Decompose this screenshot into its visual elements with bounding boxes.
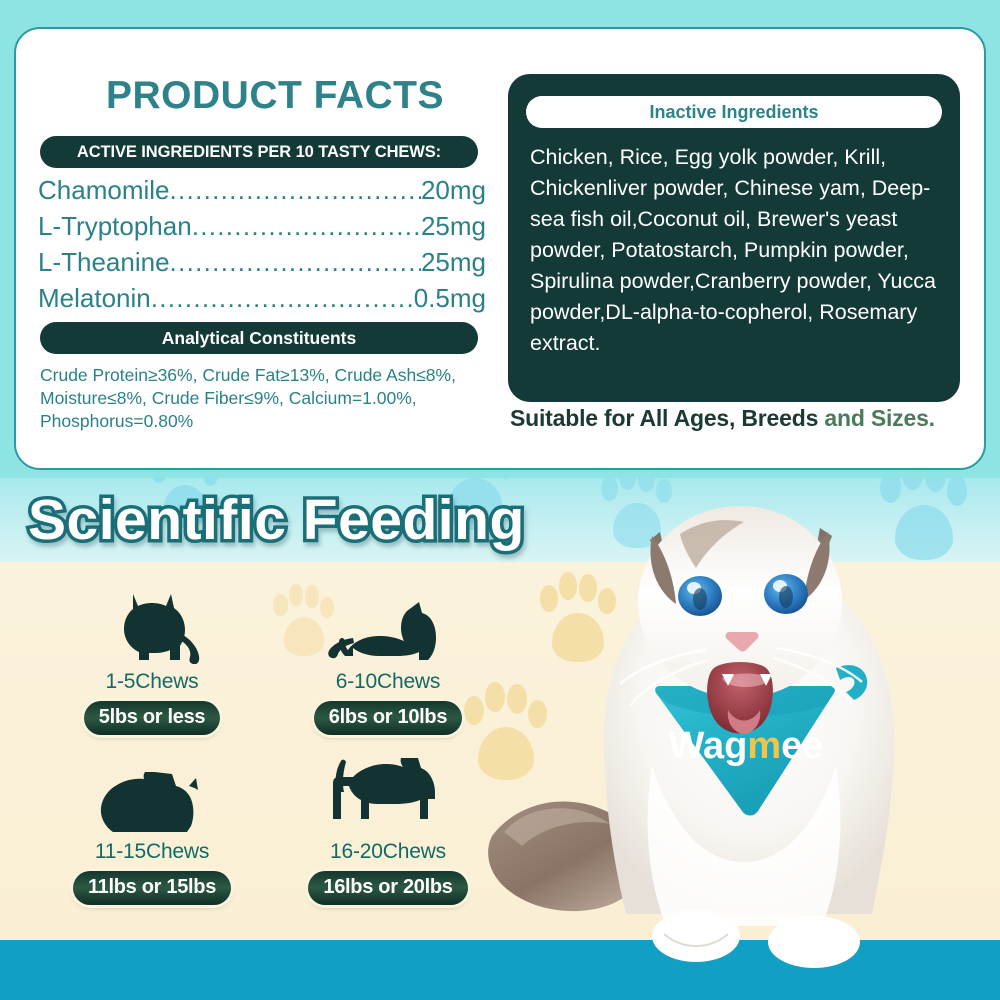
active-ingredients-list: Chamomile ..............................… [38,172,486,316]
feeding-tier: 6-10Chews 6lbs or 10lbs [298,588,478,735]
active-ingredients-header: ACTIVE INGREDIENTS PER 10 TASTY CHEWS: [40,136,478,168]
feeding-tier: 16-20Chews 16lbs or 20lbs [298,758,478,905]
feeding-weight-badge: 16lbs or 20lbs [308,871,467,905]
ingredient-name: Chamomile [38,172,170,208]
leader-dots: ........................................… [151,280,414,316]
feeding-chews-label: 6-10Chews [298,670,478,694]
feeding-weight-badge: 11lbs or 15lbs [73,871,231,905]
ingredient-amount: 25mg [421,208,486,244]
paw-watermark [538,572,618,662]
analytical-constituents-body: Crude Protein≥36%, Crude Fat≥13%, Crude … [40,364,492,433]
feeding-chews-label: 16-20Chews [298,840,478,864]
cat-loaf-icon [62,758,242,834]
cat-crouching-icon [298,588,478,664]
feeding-section-title: Scientific Feeding [28,487,525,553]
ingredient-row: Melatonin ..............................… [38,280,486,316]
leader-dots: ........................................… [170,244,421,280]
ingredient-row: L-Tryptophan ...........................… [38,208,486,244]
feeding-weight-badge: 6lbs or 10lbs [314,701,462,735]
cat-standing-icon [298,758,478,834]
suitable-statement: Suitable for All Ages, Breeds and Sizes. [510,405,935,432]
leader-dots: ........................................… [192,208,421,244]
leader-dots: ........................................… [170,172,421,208]
paw-watermark [600,478,674,548]
ingredient-name: L-Theanine [38,244,170,280]
cat-sitting-icon [62,588,242,664]
page-title: PRODUCT FACTS [106,74,444,118]
ingredient-amount: 25mg [421,244,486,280]
product-infographic: PRODUCT FACTS ACTIVE INGREDIENTS PER 10 … [0,0,1000,1000]
inactive-ingredients-body: Chicken, Rice, Egg yolk powder, Krill, C… [530,142,942,359]
feeding-chews-label: 11-15Chews [62,840,242,864]
analytical-constituents-header: Analytical Constituents [40,322,478,354]
ingredient-name: L-Tryptophan [38,208,192,244]
paw-watermark [878,478,970,560]
ingredient-amount: 20mg [421,172,486,208]
suitable-part-two: and Sizes. [824,405,935,431]
ingredient-amount: 0.5mg [414,280,486,316]
ingredient-row: Chamomile ..............................… [38,172,486,208]
bottom-bar [0,940,1000,1000]
inactive-ingredients-header: Inactive Ingredients [526,96,942,128]
suitable-part-one: Suitable for All Ages, Breeds [510,405,824,431]
feeding-chews-label: 1-5Chews [62,670,242,694]
feeding-tier: 1-5Chews 5lbs or less [62,588,242,735]
ingredient-row: L-Theanine .............................… [38,244,486,280]
inactive-ingredients-panel: Inactive Ingredients Chicken, Rice, Egg … [508,74,960,402]
feeding-weight-badge: 5lbs or less [84,701,220,735]
ingredient-name: Melatonin [38,280,151,316]
feeding-tier: 11-15Chews 11lbs or 15lbs [62,758,242,905]
